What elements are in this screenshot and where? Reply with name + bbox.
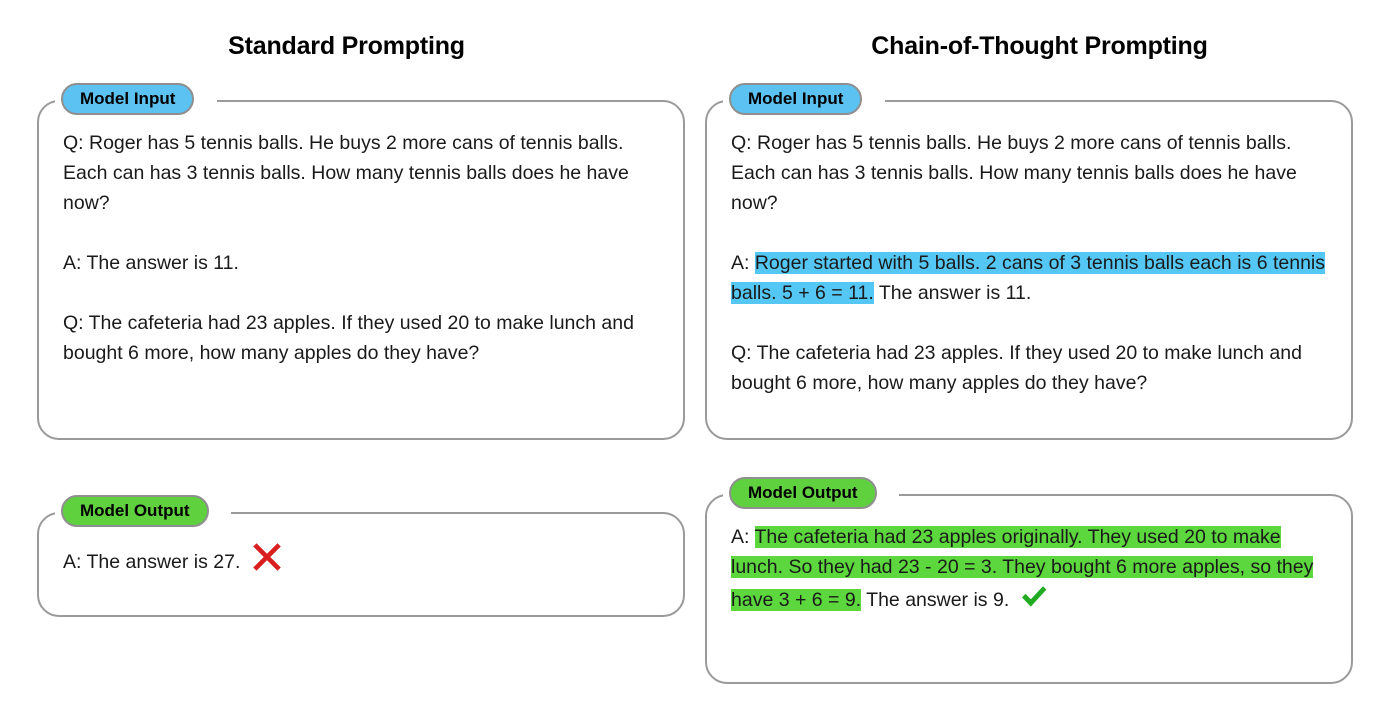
standard-prompting-title: Standard Prompting <box>0 32 693 61</box>
cot-input-answer-prefix: A: <box>731 252 755 274</box>
chain-of-thought-column: Chain-of-Thought Prompting Model Input Q… <box>693 0 1386 722</box>
cot-model-output-body: A: The cafeteria had 23 apples originall… <box>731 522 1333 621</box>
standard-model-output-body: A: The answer is 27. <box>63 540 665 583</box>
cot-input-answer-suffix: The answer is 11. <box>874 282 1032 304</box>
standard-input-question-1: Q: Roger has 5 tennis balls. He buys 2 m… <box>63 128 665 218</box>
standard-output-answer: A: The answer is 27. <box>63 551 240 573</box>
standard-input-question-2: Q: The cafeteria had 23 apples. If they … <box>63 308 665 368</box>
cot-input-question-2: Q: The cafeteria had 23 apples. If they … <box>731 338 1333 398</box>
cot-model-output-panel: A: The cafeteria had 23 apples originall… <box>705 494 1353 684</box>
standard-model-output-badge: Model Output <box>61 495 209 527</box>
standard-model-input-body: Q: Roger has 5 tennis balls. He buys 2 m… <box>63 128 665 368</box>
standard-model-input-badge: Model Input <box>61 83 194 115</box>
cot-input-answer-1: A: Roger started with 5 balls. 2 cans of… <box>731 248 1333 308</box>
check-mark-icon <box>1019 582 1049 621</box>
cot-input-question-1: Q: Roger has 5 tennis balls. He buys 2 m… <box>731 128 1333 218</box>
cot-output-answer: A: The cafeteria had 23 apples originall… <box>731 522 1333 621</box>
standard-input-answer-1: A: The answer is 11. <box>63 248 665 278</box>
cot-output-suffix: The answer is 9. <box>861 589 1009 611</box>
standard-prompting-column: Standard Prompting Model Input Q: Roger … <box>0 0 693 722</box>
cross-mark-icon <box>250 540 284 583</box>
standard-model-output-panel: A: The answer is 27. <box>37 512 685 617</box>
cot-model-input-panel: Q: Roger has 5 tennis balls. He buys 2 m… <box>705 100 1353 440</box>
cot-output-prefix: A: <box>731 526 755 548</box>
cot-model-input-body: Q: Roger has 5 tennis balls. He buys 2 m… <box>731 128 1333 398</box>
chain-of-thought-title: Chain-of-Thought Prompting <box>693 32 1386 61</box>
standard-model-input-panel: Q: Roger has 5 tennis balls. He buys 2 m… <box>37 100 685 440</box>
cot-model-output-badge: Model Output <box>729 477 877 509</box>
cot-model-input-badge: Model Input <box>729 83 862 115</box>
